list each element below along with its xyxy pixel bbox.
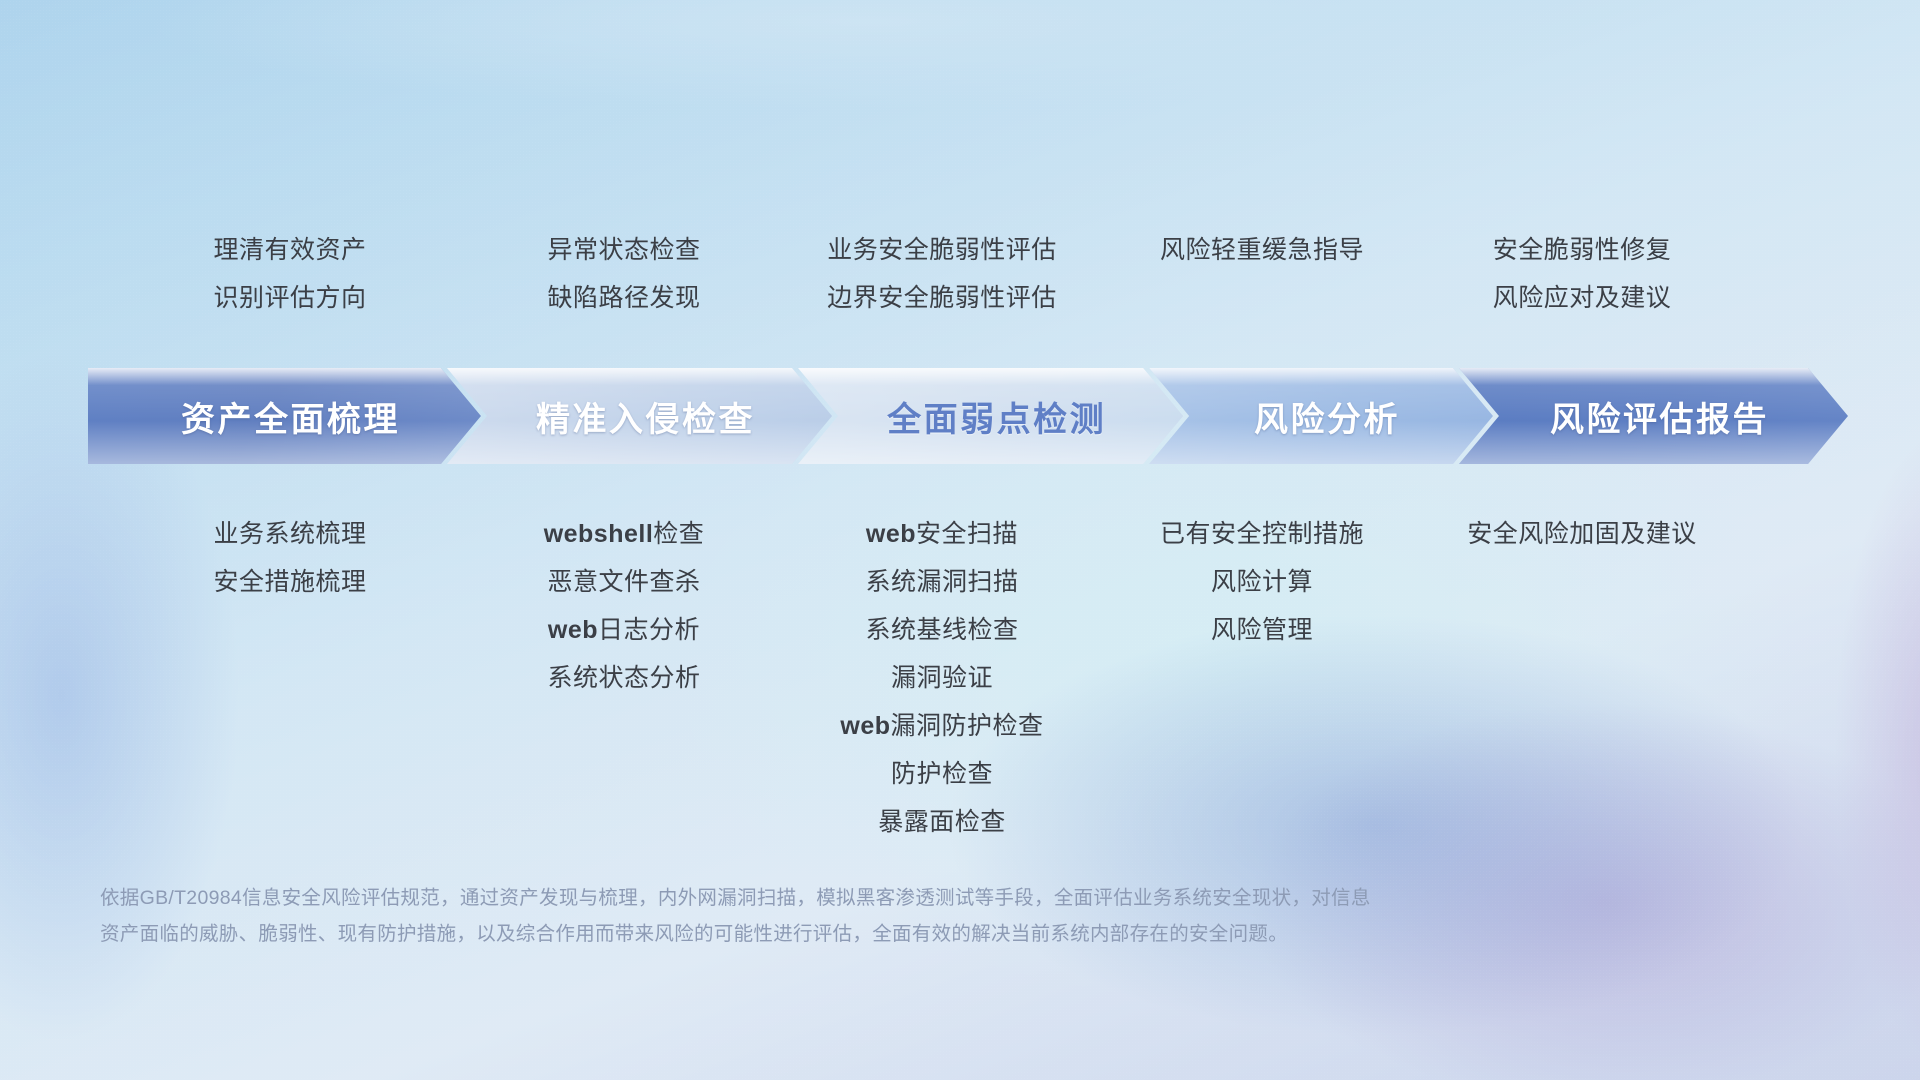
bottom-item: 恶意文件查杀 [547, 558, 700, 606]
bottom-items-row: 业务系统梳理 安全措施梳理 webshell检查 恶意文件查杀 web日志分析 … [0, 510, 1920, 846]
bottom-item: 风险计算 [1211, 558, 1313, 606]
bottom-item: 风险管理 [1211, 606, 1313, 654]
bottom-item: web日志分析 [548, 606, 700, 654]
stage-arrow-label: 精准入侵检查 [447, 392, 832, 441]
bottom-item-prefix: web [548, 616, 598, 644]
top-item: 边界安全脆弱性评估 [827, 274, 1057, 322]
bottom-item-prefix: web [866, 520, 916, 548]
stage-arrow-risk-analysis[interactable]: 风险分析 [1149, 368, 1493, 464]
top-column-stage-5: 安全脆弱性修复 风险应对及建议 [1412, 226, 1752, 322]
stage-arrow-label: 全面弱点检测 [798, 392, 1183, 441]
top-item: 理清有效资产 [213, 226, 366, 274]
bottom-item: 漏洞验证 [891, 654, 993, 702]
stage-arrow-label: 风险评估报告 [1459, 392, 1848, 441]
bottom-item: 防护检查 [891, 750, 993, 798]
bottom-column-stage-1: 业务系统梳理 安全措施梳理 [104, 510, 476, 606]
bottom-item-prefix: web [840, 712, 890, 740]
top-item: 风险轻重缓急指导 [1160, 226, 1364, 274]
top-item: 缺陷路径发现 [547, 274, 700, 322]
bottom-item: 业务系统梳理 [213, 510, 366, 558]
stage-arrow-asset-inventory[interactable]: 资产全面梳理 [88, 368, 481, 464]
top-item: 识别评估方向 [213, 274, 366, 322]
bottom-item: 系统基线检查 [865, 606, 1018, 654]
bottom-item: webshell检查 [544, 510, 705, 558]
bottom-item-prefix: webshell [544, 520, 654, 548]
bottom-item: 系统漏洞扫描 [865, 558, 1018, 606]
stage-arrow-label: 资产全面梳理 [88, 392, 481, 441]
stage-arrow-label: 风险分析 [1149, 392, 1493, 441]
bottom-column-stage-5: 安全风险加固及建议 [1412, 510, 1752, 558]
top-column-stage-1: 理清有效资产 识别评估方向 [104, 226, 476, 322]
bottom-item: 已有安全控制措施 [1160, 510, 1364, 558]
bottom-item: web安全扫描 [866, 510, 1018, 558]
bottom-item-suffix: 日志分析 [598, 616, 700, 644]
top-column-stage-2: 异常状态检查 缺陷路径发现 [476, 226, 772, 322]
footer-text: 依据GB/T20984信息安全风险评估规范，通过资产发现与梳理，内外网漏洞扫描，… [100, 880, 1660, 952]
bottom-item-suffix: 漏洞防护检查 [891, 712, 1044, 740]
stage-arrow-risk-report[interactable]: 风险评估报告 [1459, 368, 1848, 464]
bottom-item-suffix: 安全扫描 [916, 520, 1018, 548]
process-arrow-band: 资产全面梳理 精准入侵检查 全面弱点检测 风险分析 风险评估报告 [88, 368, 1848, 464]
bottom-column-stage-2: webshell检查 恶意文件查杀 web日志分析 系统状态分析 [476, 510, 772, 702]
bottom-item: web漏洞防护检查 [840, 702, 1043, 750]
bottom-item: 安全措施梳理 [213, 558, 366, 606]
top-item: 安全脆弱性修复 [1493, 226, 1672, 274]
bottom-column-stage-3: web安全扫描 系统漏洞扫描 系统基线检查 漏洞验证 web漏洞防护检查 防护检… [772, 510, 1112, 846]
stage-arrow-weakness-detection[interactable]: 全面弱点检测 [798, 368, 1183, 464]
footer-description: 依据GB/T20984信息安全风险评估规范，通过资产发现与梳理，内外网漏洞扫描，… [100, 880, 1660, 952]
bottom-item-suffix: 检查 [653, 520, 704, 548]
top-item: 风险应对及建议 [1493, 274, 1672, 322]
bottom-column-stage-4: 已有安全控制措施 风险计算 风险管理 [1112, 510, 1412, 654]
top-column-stage-3: 业务安全脆弱性评估 边界安全脆弱性评估 [772, 226, 1112, 322]
bottom-item: 系统状态分析 [547, 654, 700, 702]
top-items-row: 理清有效资产 识别评估方向 异常状态检查 缺陷路径发现 业务安全脆弱性评估 边界… [0, 226, 1920, 322]
bottom-item: 安全风险加固及建议 [1467, 510, 1697, 558]
bottom-item: 暴露面检查 [878, 798, 1006, 846]
top-item: 异常状态检查 [547, 226, 700, 274]
top-item: 业务安全脆弱性评估 [827, 226, 1057, 274]
top-column-stage-4: 风险轻重缓急指导 [1112, 226, 1412, 274]
stage-arrow-intrusion-check[interactable]: 精准入侵检查 [447, 368, 832, 464]
